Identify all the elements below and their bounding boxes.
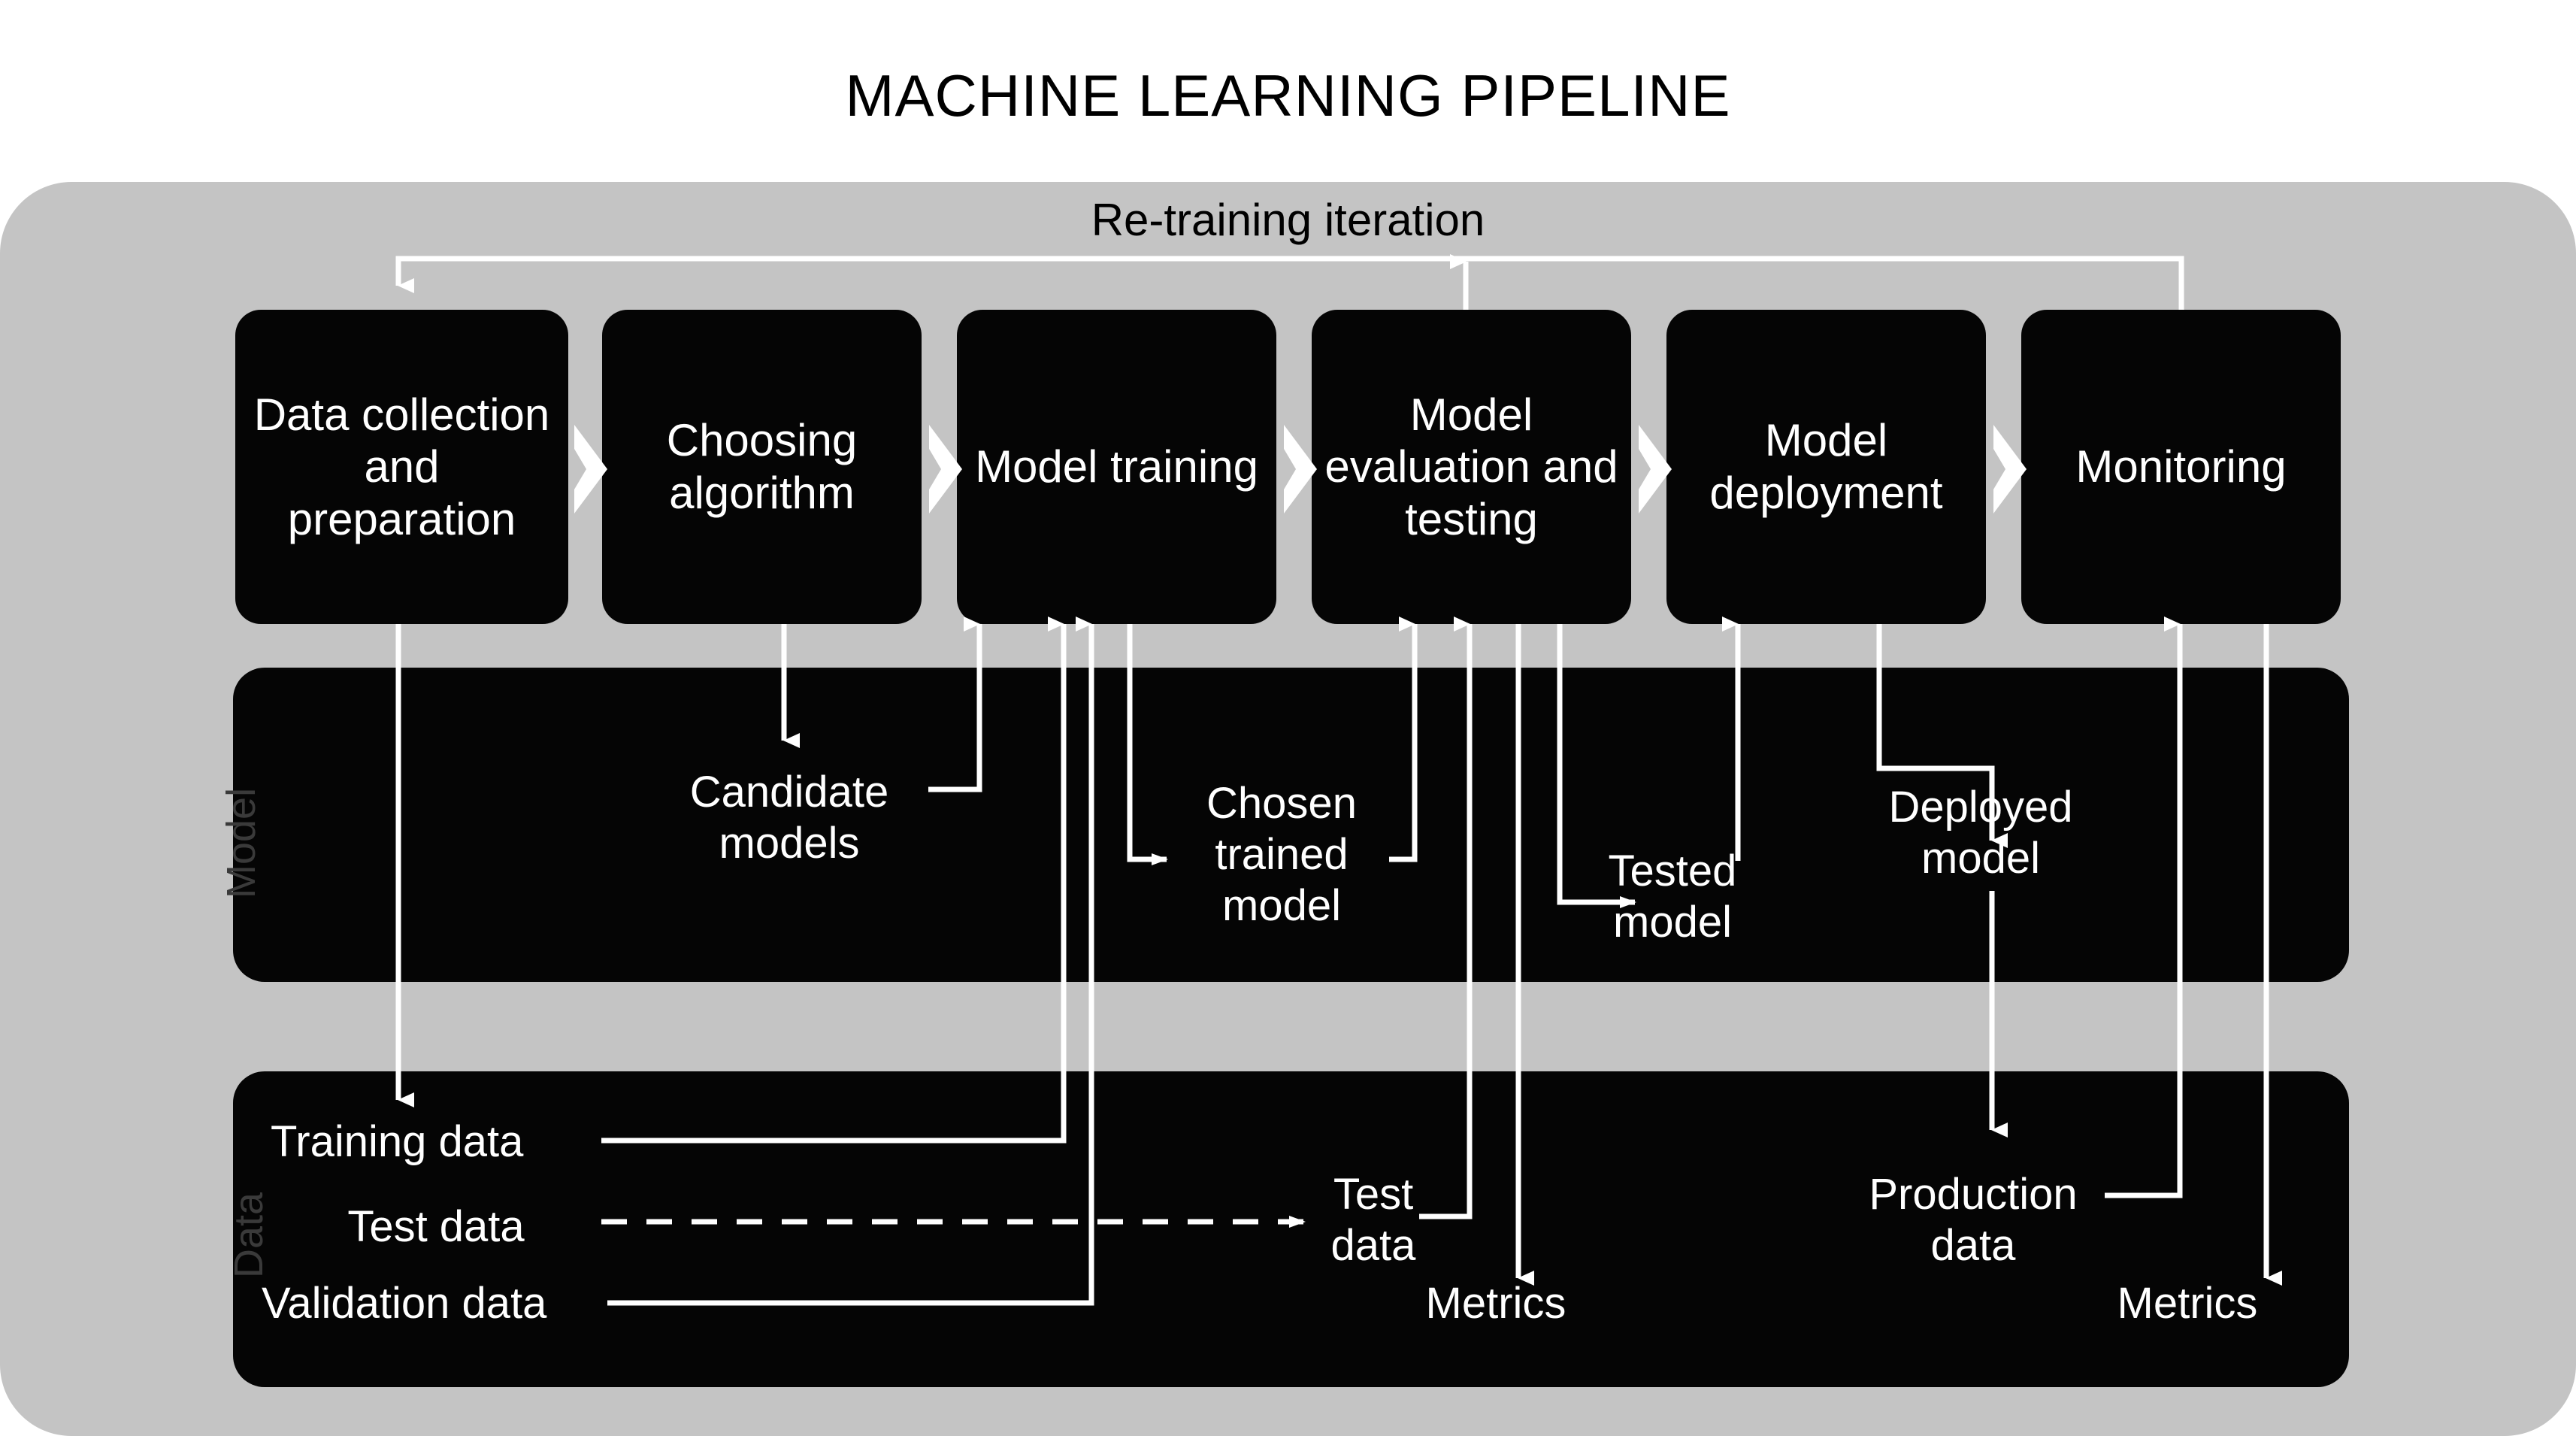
artifact-training-data: Training data	[271, 1116, 594, 1168]
chevron-right-icon	[1279, 425, 1321, 514]
swimlane-label-data: Data	[226, 1192, 272, 1278]
stage-box-model-deployment[interactable]: Model deployment	[1666, 310, 1986, 624]
artifact-candidate-models: Candidate models	[669, 767, 910, 869]
artifact-validation-data: Validation data	[262, 1278, 600, 1329]
artifact-test-data-eval: Test data	[278, 1201, 594, 1253]
artifact-tested-model: Tested model	[1571, 846, 1774, 948]
artifact-deployed-model: Deployed model	[1857, 782, 2105, 884]
swimlane-label-model: Model	[218, 788, 265, 898]
artifact-production-data: Production data	[1845, 1169, 2101, 1271]
stage-box-monitoring[interactable]: Monitoring	[2021, 310, 2341, 624]
artifact-metrics-evaluation: Metrics	[1402, 1278, 1590, 1329]
artifact-chosen-trained-model: Chosen trained model	[1180, 778, 1383, 932]
stage-box-model-training[interactable]: Model training	[957, 310, 1276, 624]
stage-box-data-collection-and-preparation[interactable]: Data collection and preparation	[235, 310, 568, 624]
artifact-test-data-right: Test data	[1317, 1169, 1430, 1271]
retraining-iteration-label: Re-training iteration	[0, 194, 2576, 246]
diagram-canvas: MACHINE LEARNING PIPELINE Re-training it…	[0, 0, 2576, 1436]
stage-box-choosing-algorithm[interactable]: Choosing algorithm	[602, 310, 922, 624]
chevron-right-icon	[570, 425, 612, 514]
stage-box-model-evaluation-and-testing[interactable]: Model evaluation and testing	[1312, 310, 1631, 624]
artifact-metrics-monitoring: Metrics	[2082, 1278, 2293, 1329]
chevron-right-icon	[1989, 425, 2031, 514]
chevron-right-icon	[1634, 425, 1676, 514]
page-title: MACHINE LEARNING PIPELINE	[0, 62, 2576, 130]
chevron-right-icon	[925, 425, 967, 514]
